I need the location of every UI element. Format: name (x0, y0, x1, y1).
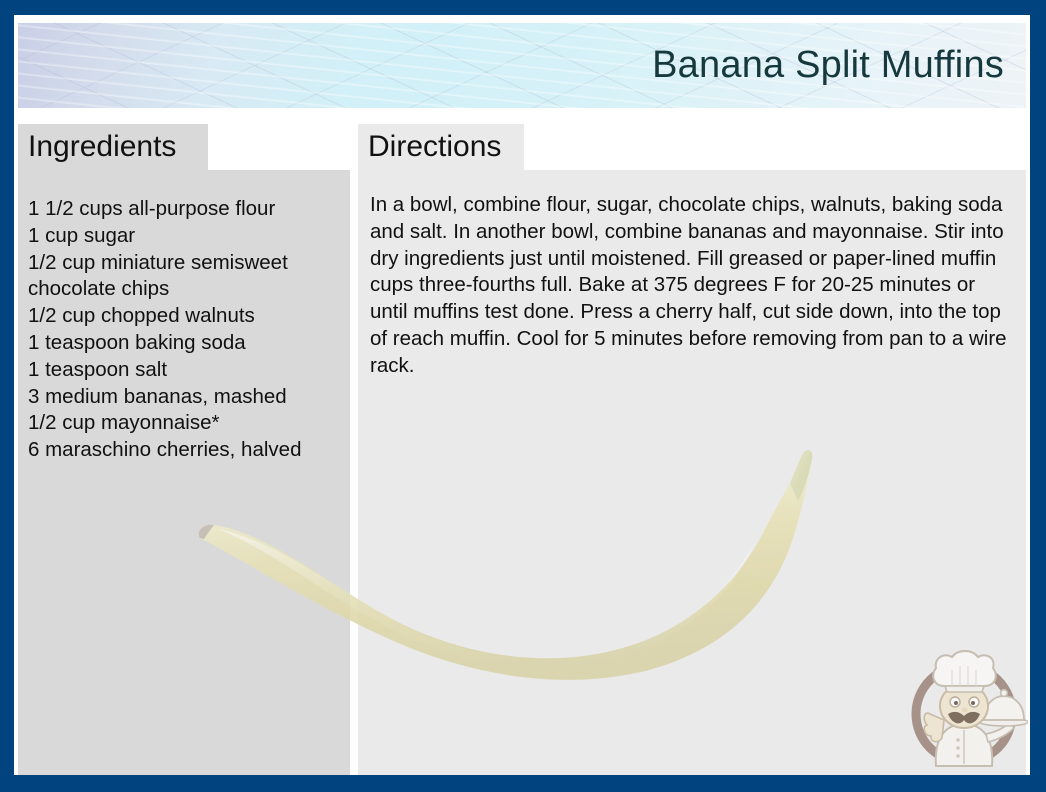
ingredients-tab[interactable]: Ingredients (18, 124, 208, 170)
ingredients-body: 1 1/2 cups all-purpose flour1 cup sugar1… (18, 170, 350, 775)
directions-tab-label: Directions (368, 132, 501, 162)
ingredient-item: 1/2 cup miniature semisweet (28, 250, 338, 277)
directions-text: In a bowl, combine flour, sugar, chocola… (370, 192, 1010, 380)
ingredient-item: 1 cup sugar (28, 223, 338, 250)
header-banner: Banana Split Muffins (18, 23, 1026, 108)
recipe-card: Banana Split Muffins Ingredients 1 1/2 c… (0, 0, 1046, 792)
ingredient-item: 1 teaspoon baking soda (28, 330, 338, 357)
ingredient-list: 1 1/2 cups all-purpose flour1 cup sugar1… (28, 196, 338, 464)
ingredients-panel: Ingredients 1 1/2 cups all-purpose flour… (18, 124, 350, 775)
ingredient-item: 3 medium bananas, mashed (28, 384, 338, 411)
ingredient-item: 1 teaspoon salt (28, 357, 338, 384)
directions-body: In a bowl, combine flour, sugar, chocola… (358, 170, 1026, 775)
ingredients-tab-label: Ingredients (28, 132, 176, 162)
ingredient-item: 1/2 cup mayonnaise* (28, 410, 338, 437)
page-title: Banana Split Muffins (652, 46, 1004, 86)
ingredient-item: chocolate chips (28, 276, 338, 303)
directions-panel: Directions In a bowl, combine flour, sug… (358, 124, 1026, 775)
ingredient-item: 1 1/2 cups all-purpose flour (28, 196, 338, 223)
ingredient-item: 6 maraschino cherries, halved (28, 437, 338, 464)
ingredient-item: 1/2 cup chopped walnuts (28, 303, 338, 330)
directions-tab[interactable]: Directions (358, 124, 524, 170)
